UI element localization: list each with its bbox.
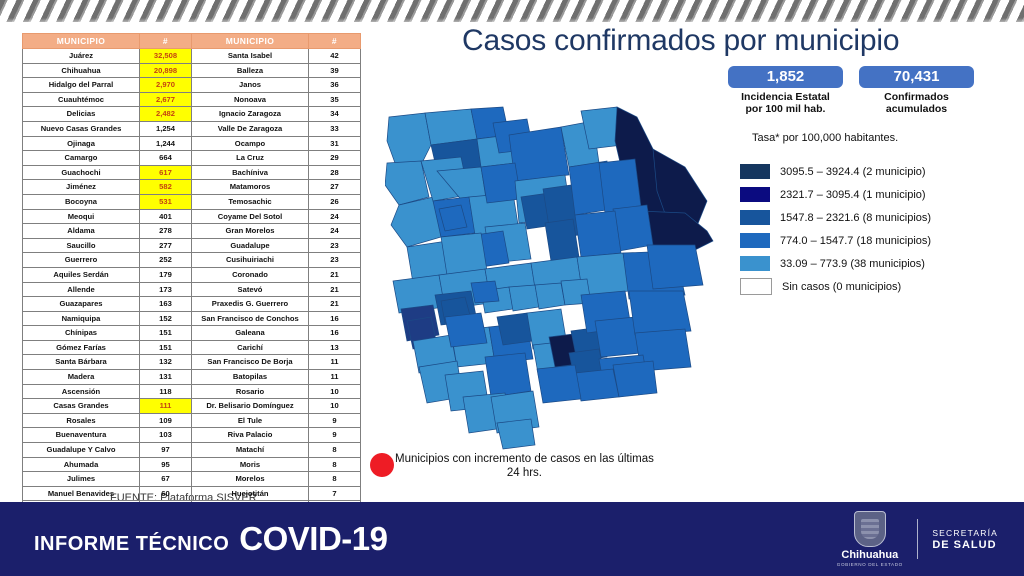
table-row: Cuauhtémoc2,677Nonoava35 (23, 92, 361, 107)
table-row: Manuel Benavides60Huejotitán7 (23, 486, 361, 501)
cell-count-left: 131 (140, 370, 192, 385)
cell-municipio-left: Ascensión (23, 384, 140, 399)
cell-municipio-left: Namiquipa (23, 311, 140, 326)
stat-label-incidencia-line2: por 100 mil hab. (728, 103, 843, 115)
cell-count-left: 278 (140, 224, 192, 239)
cell-count-left-highlighted: 2,677 (140, 92, 192, 107)
cell-count-right: 10 (309, 399, 361, 414)
cell-count-right: 29 (309, 151, 361, 166)
table-row: Jiménez582Matamoros27 (23, 180, 361, 195)
table-row: Gómez Farías151Carichí13 (23, 340, 361, 355)
cell-municipio-right: Gran Morelos (192, 224, 309, 239)
column-header-municipio-right: MUNICIPIO (192, 34, 309, 49)
legend-label: 33.09 – 773.9 (38 municipios) (780, 258, 925, 270)
cell-municipio-right: Carichí (192, 340, 309, 355)
cell-count-left-highlighted: 32,508 (140, 49, 192, 64)
cell-count-right: 42 (309, 49, 361, 64)
table-row: Guachochi617Bachíniva28 (23, 165, 361, 180)
column-header-count-left: # (140, 34, 192, 49)
cell-municipio-right: Balleza (192, 63, 309, 78)
rate-footnote: Tasa* por 100,000 habitantes. (752, 132, 898, 144)
legend-color-swatch (740, 278, 772, 295)
page-title-secondary: por municipio (724, 24, 900, 57)
municipality-table-panel: MUNICIPIO # MUNICIPIO # Juárez32,508Sant… (22, 33, 360, 545)
cell-municipio-left: Allende (23, 282, 140, 297)
cell-count-left: 151 (140, 340, 192, 355)
cell-municipio-left: Chihuahua (23, 63, 140, 78)
shield-icon (854, 511, 886, 547)
cell-count-left-highlighted: 531 (140, 194, 192, 209)
cell-municipio-left: Nuevo Casas Grandes (23, 121, 140, 136)
cell-count-left: 151 (140, 326, 192, 341)
cell-municipio-left: Guadalupe Y Calvo (23, 443, 140, 458)
table-row: Chihuahua20,898Balleza39 (23, 63, 361, 78)
cell-municipio-right: Coronado (192, 267, 309, 282)
cell-municipio-right: Morelos (192, 472, 309, 487)
cell-count-right: 28 (309, 165, 361, 180)
cell-count-right: 27 (309, 180, 361, 195)
legend-label: 2321.7 – 3095.4 (1 municipio) (780, 189, 926, 201)
table-row: Santa Bárbara132San Francisco De Borja11 (23, 355, 361, 370)
shield-inner-pattern (861, 519, 879, 539)
cell-municipio-right: Moris (192, 457, 309, 472)
cell-municipio-right: Valle De Zaragoza (192, 121, 309, 136)
table-row: Allende173Satevó21 (23, 282, 361, 297)
bottom-banner: INFORME TÉCNICO COVID-19 Chihuahua GOBIE… (0, 502, 1024, 576)
cell-municipio-right: Praxedis G. Guerrero (192, 297, 309, 312)
cell-count-left: 103 (140, 428, 192, 443)
cell-count-right: 11 (309, 355, 361, 370)
banner-title: INFORME TÉCNICO COVID-19 (34, 520, 388, 558)
cell-municipio-left: Buenaventura (23, 428, 140, 443)
cell-municipio-left: Guerrero (23, 253, 140, 268)
stat-label-incidencia: Incidencia Estatal por 100 mil hab. (728, 91, 843, 115)
legend-color-swatch (740, 233, 770, 248)
legend-row: 33.09 – 773.9 (38 municipios) (740, 252, 931, 275)
legend-label: 3095.5 – 3924.4 (2 municipio) (780, 166, 926, 178)
cell-municipio-right: San Francisco de Conchos (192, 311, 309, 326)
table-row: Nuevo Casas Grandes1,254Valle De Zaragoz… (23, 121, 361, 136)
column-header-municipio-left: MUNICIPIO (23, 34, 140, 49)
stat-boxes: 1,852 Incidencia Estatal por 100 mil hab… (728, 66, 974, 115)
cell-count-right: 23 (309, 253, 361, 268)
cell-count-right: 35 (309, 92, 361, 107)
cell-count-left: 252 (140, 253, 192, 268)
stat-label-confirmados: Confirmados acumulados (859, 91, 974, 115)
cell-municipio-right: Satevó (192, 282, 309, 297)
legend-label: 774.0 – 1547.7 (18 municipios) (780, 235, 931, 247)
cell-count-left-highlighted: 111 (140, 399, 192, 414)
table-row: Madera131Batopilas11 (23, 370, 361, 385)
cell-municipio-left: Juárez (23, 49, 140, 64)
red-dot-icon (370, 453, 394, 477)
crest-name: Chihuahua (841, 549, 898, 561)
chihuahua-choropleth-map (385, 105, 715, 450)
cell-count-left: 173 (140, 282, 192, 297)
legend-row: 2321.7 – 3095.4 (1 municipio) (740, 183, 931, 206)
cell-municipio-right: Cusihuiriachi (192, 253, 309, 268)
cell-municipio-right: Matachí (192, 443, 309, 458)
cell-municipio-right: Temosachic (192, 194, 309, 209)
cell-count-right: 8 (309, 443, 361, 458)
banner-logos: Chihuahua GOBIERNO DEL ESTADO SECRETARÍA… (837, 502, 998, 576)
cell-count-left-highlighted: 20,898 (140, 63, 192, 78)
banner-title-small: INFORME TÉCNICO (34, 533, 229, 556)
cell-municipio-left: Ahumada (23, 457, 140, 472)
table-row: Guerrero252Cusihuiriachi23 (23, 253, 361, 268)
cell-municipio-right: Riva Palacio (192, 428, 309, 443)
cell-count-right: 13 (309, 340, 361, 355)
cell-count-left: 163 (140, 297, 192, 312)
cell-municipio-right: Coyame Del Sotol (192, 209, 309, 224)
cell-municipio-left: Rosales (23, 413, 140, 428)
cell-count-left: 1,254 (140, 121, 192, 136)
table-row: Guadalupe Y Calvo97Matachí8 (23, 443, 361, 458)
table-row: Aquiles Serdán179Coronado21 (23, 267, 361, 282)
cell-municipio-right: Galeana (192, 326, 309, 341)
stat-box-confirmados: 70,431 Confirmados acumulados (859, 66, 974, 115)
cell-count-right: 8 (309, 457, 361, 472)
table-body: Juárez32,508Santa Isabel42Chihuahua20,89… (23, 49, 361, 545)
legend-color-swatch (740, 187, 770, 202)
cell-count-right: 16 (309, 326, 361, 341)
cell-count-left: 277 (140, 238, 192, 253)
legend-color-swatch (740, 256, 770, 271)
legend-row: 774.0 – 1547.7 (18 municipios) (740, 229, 931, 252)
stat-label-confirmados-line1: Confirmados (859, 91, 974, 103)
cell-municipio-right: Batopilas (192, 370, 309, 385)
table-row: Chínipas151Galeana16 (23, 326, 361, 341)
cell-municipio-left: Guazapares (23, 297, 140, 312)
cell-municipio-right: Ocampo (192, 136, 309, 151)
cell-count-left: 95 (140, 457, 192, 472)
legend-color-swatch (740, 164, 770, 179)
cell-count-right: 26 (309, 194, 361, 209)
table-row: Juárez32,508Santa Isabel42 (23, 49, 361, 64)
cell-count-right: 8 (309, 472, 361, 487)
cell-count-right: 24 (309, 209, 361, 224)
increment-note-line2: 24 hrs. (507, 467, 542, 479)
table-row: Hidalgo del Parral2,970Janos36 (23, 78, 361, 93)
cell-municipio-right: Guadalupe (192, 238, 309, 253)
stat-label-confirmados-line2: acumulados (859, 103, 974, 115)
cell-count-right: 10 (309, 384, 361, 399)
table-row: Ahumada95Moris8 (23, 457, 361, 472)
cell-count-left: 152 (140, 311, 192, 326)
increment-note-line1: Municipios con incremento de casos en la… (395, 453, 654, 465)
stat-label-incidencia-line1: Incidencia Estatal (728, 91, 843, 103)
table-row: Namiquipa152San Francisco de Conchos16 (23, 311, 361, 326)
cell-count-right: 9 (309, 413, 361, 428)
cell-count-right: 31 (309, 136, 361, 151)
cell-count-left-highlighted: 2,482 (140, 107, 192, 122)
cell-count-left-highlighted: 617 (140, 165, 192, 180)
cell-municipio-right: Bachíniva (192, 165, 309, 180)
cell-count-right: 39 (309, 63, 361, 78)
cell-municipio-right: Matamoros (192, 180, 309, 195)
cell-municipio-left: Meoqui (23, 209, 140, 224)
cell-municipio-left: Cuauhtémoc (23, 92, 140, 107)
cell-count-right: 34 (309, 107, 361, 122)
cell-count-left: 1,244 (140, 136, 192, 151)
cell-municipio-right: Santa Isabel (192, 49, 309, 64)
cell-municipio-left: Jiménez (23, 180, 140, 195)
cell-count-left: 60 (140, 486, 192, 501)
chihuahua-crest-logo: Chihuahua GOBIERNO DEL ESTADO (837, 511, 903, 567)
cell-municipio-left: Gómez Farías (23, 340, 140, 355)
cell-municipio-right: Rosario (192, 384, 309, 399)
cell-municipio-left: Madera (23, 370, 140, 385)
table-row: Aldama278Gran Morelos24 (23, 224, 361, 239)
cell-municipio-right: Huejotitán (192, 486, 309, 501)
cell-count-left-highlighted: 582 (140, 180, 192, 195)
secretaria-line1: SECRETARÍA (932, 527, 998, 539)
cell-count-right: 33 (309, 121, 361, 136)
stat-value-confirmados: 70,431 (859, 66, 974, 88)
table-row: Bocoyna531Temosachic26 (23, 194, 361, 209)
cell-count-left: 118 (140, 384, 192, 399)
cell-municipio-left: Manuel Benavides (23, 486, 140, 501)
stat-box-incidencia: 1,852 Incidencia Estatal por 100 mil hab… (728, 66, 843, 115)
table-header-row: MUNICIPIO # MUNICIPIO # (23, 34, 361, 49)
cell-municipio-left: Julimes (23, 472, 140, 487)
cell-count-left: 179 (140, 267, 192, 282)
cell-count-left-highlighted: 2,970 (140, 78, 192, 93)
table-row: Ascensión118Rosario10 (23, 384, 361, 399)
cell-count-left: 109 (140, 413, 192, 428)
cell-municipio-left: Aquiles Serdán (23, 267, 140, 282)
cell-count-right: 21 (309, 282, 361, 297)
cell-count-right: 24 (309, 224, 361, 239)
cell-municipio-right: Janos (192, 78, 309, 93)
cell-municipio-left: Aldama (23, 224, 140, 239)
crest-subtitle: GOBIERNO DEL ESTADO (837, 562, 903, 567)
stat-value-incidencia: 1,852 (728, 66, 843, 88)
cell-count-right: 21 (309, 297, 361, 312)
municipality-table: MUNICIPIO # MUNICIPIO # Juárez32,508Sant… (22, 33, 361, 545)
legend-row: 3095.5 – 3924.4 (2 municipio) (740, 160, 931, 183)
table-row: Julimes67Morelos8 (23, 472, 361, 487)
cell-count-right: 21 (309, 267, 361, 282)
table-row: Casas Grandes111Dr. Belisario Domínguez1… (23, 399, 361, 414)
legend-label: 1547.8 – 2321.6 (8 municipios) (780, 212, 931, 224)
cell-count-right: 9 (309, 428, 361, 443)
cell-municipio-right: El Tule (192, 413, 309, 428)
cell-municipio-left: Casas Grandes (23, 399, 140, 414)
cell-municipio-left: Santa Bárbara (23, 355, 140, 370)
cell-municipio-right: San Francisco De Borja (192, 355, 309, 370)
cell-municipio-left: Camargo (23, 151, 140, 166)
cell-municipio-right: La Cruz (192, 151, 309, 166)
increment-note-text: Municipios con incremento de casos en la… (395, 452, 654, 480)
cell-count-left: 401 (140, 209, 192, 224)
cell-count-right: 23 (309, 238, 361, 253)
legend-color-swatch (740, 210, 770, 225)
cell-count-left: 132 (140, 355, 192, 370)
page-title: Casos confirmados por municipio (462, 24, 899, 58)
cell-count-right: 11 (309, 370, 361, 385)
cell-municipio-right: Ignacio Zaragoza (192, 107, 309, 122)
secretaria-de-salud-logo: SECRETARÍA DE SALUD (932, 527, 998, 551)
table-row: Guazapares163Praxedis G. Guerrero21 (23, 297, 361, 312)
cell-municipio-left: Saucillo (23, 238, 140, 253)
cell-count-right: 36 (309, 78, 361, 93)
table-row: Saucillo277Guadalupe23 (23, 238, 361, 253)
table-row: Camargo664La Cruz29 (23, 151, 361, 166)
legend-label: Sin casos (0 municipios) (782, 281, 901, 293)
cell-municipio-right: Nonoava (192, 92, 309, 107)
cell-municipio-left: Delicias (23, 107, 140, 122)
table-row: Buenaventura103Riva Palacio9 (23, 428, 361, 443)
page-title-main: Casos confirmados (462, 24, 715, 57)
increment-note: Municipios con incremento de casos en la… (370, 452, 700, 480)
table-row: Ojinaga1,244Ocampo31 (23, 136, 361, 151)
cell-municipio-left: Guachochi (23, 165, 140, 180)
table-row: Rosales109El Tule9 (23, 413, 361, 428)
column-header-count-right: # (309, 34, 361, 49)
cell-municipio-left: Chínipas (23, 326, 140, 341)
cell-municipio-right: Dr. Belisario Domínguez (192, 399, 309, 414)
cell-count-left: 664 (140, 151, 192, 166)
table-row: Meoqui401Coyame Del Sotol24 (23, 209, 361, 224)
map-legend: 3095.5 – 3924.4 (2 municipio)2321.7 – 30… (740, 160, 931, 298)
cell-municipio-left: Ojinaga (23, 136, 140, 151)
cell-municipio-left: Bocoyna (23, 194, 140, 209)
legend-row: 1547.8 – 2321.6 (8 municipios) (740, 206, 931, 229)
cell-count-left: 67 (140, 472, 192, 487)
cell-municipio-left: Hidalgo del Parral (23, 78, 140, 93)
logo-divider (917, 519, 919, 559)
legend-row: Sin casos (0 municipios) (740, 275, 931, 298)
banner-title-big: COVID-19 (239, 520, 387, 558)
cell-count-right: 16 (309, 311, 361, 326)
secretaria-line2: DE SALUD (932, 539, 998, 551)
table-row: Delicias2,482Ignacio Zaragoza34 (23, 107, 361, 122)
cell-count-left: 97 (140, 443, 192, 458)
cell-count-right: 7 (309, 486, 361, 501)
